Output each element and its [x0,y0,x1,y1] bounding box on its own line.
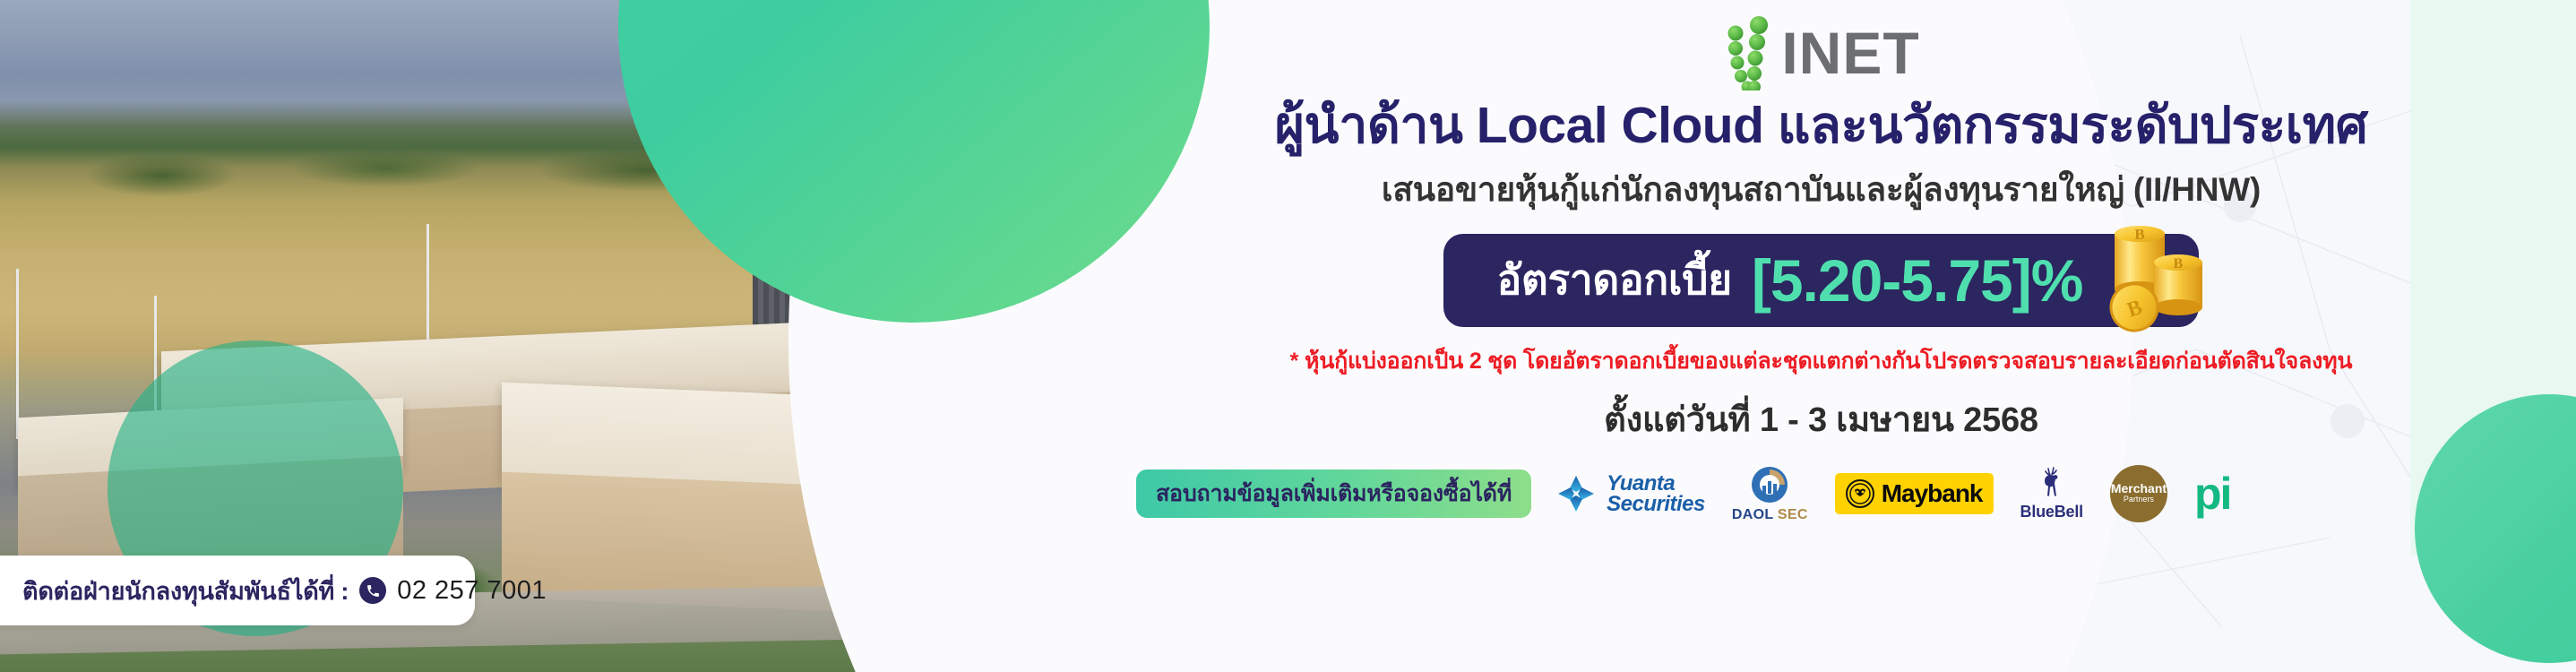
bluebell-wordmark: BlueBell [2020,503,2083,521]
yuanta-star-icon [1555,472,1598,515]
inquiry-cta-button[interactable]: สอบถามข้อมูลเพิ่มเติมหรือจองซื้อได้ที่ [1136,470,1531,518]
partner-row: สอบถามข้อมูลเพิ่มเติมหรือจองซื้อได้ที่ [1066,464,2576,523]
partner-logo-bluebell[interactable]: BlueBell [2020,466,2083,521]
pi-wordmark: pi [2194,476,2230,512]
yuanta-line-2: Securities [1607,494,1705,514]
inet-logo: INET [1722,14,1919,91]
investor-relations-contact-card[interactable]: ติดต่อฝ่ายนักลงทุนสัมพันธ์ได้ที่ : 02 25… [0,556,475,625]
interest-rate-label: อัตราดอกเบี้ย [1497,247,1732,313]
daol-line-2: SEC [1778,507,1808,522]
yuanta-line-1: Yuanta [1607,473,1705,494]
utility-pole [16,269,19,439]
merchant-line-1: Merchant [2111,482,2167,495]
inet-dots-logo-icon [1722,15,1778,90]
contact-phone-number: 02 257 7001 [397,576,547,606]
offer-date-range: ตั้งแต่วันที่ 1 - 3 เมษายน 2568 [1604,392,2038,446]
partner-logo-daol-sec[interactable]: DAOL SEC [1732,464,1808,523]
content-column: INET ผู้นำด้าน Local Cloud และนวัตกรรมระ… [1066,0,2576,672]
headline: ผู้นำด้าน Local Cloud และนวัตกรรมระดับปร… [1275,97,2368,156]
svg-text:B: B [2174,256,2184,271]
svg-text:B: B [2135,226,2145,243]
daol-line-1: DAOL [1732,507,1773,522]
daol-circle-icon [1749,464,1790,505]
gold-coin-stack-icon: B B B [2098,207,2215,332]
contact-label: ติดต่อฝ่ายนักลงทุนสัมพันธ์ได้ที่ : [22,572,349,610]
maybank-wordmark: Maybank [1882,479,1983,508]
phone-icon [359,577,386,604]
partner-logo-yuanta[interactable]: Yuanta Securities [1555,472,1705,515]
disclaimer-text: * หุ้นกู้แบ่งออกเป็น 2 ชุด โดยอัตราดอกเบ… [1290,343,2353,379]
partner-logo-maybank[interactable]: Maybank [1835,473,1994,514]
maybank-tiger-icon [1846,479,1874,508]
interest-rate-value: [5.20-5.75]% [1752,246,2083,314]
partner-logos: Yuanta Securities DAOL [1555,464,2230,523]
partner-logo-merchant-partners[interactable]: Merchant Partners [2110,465,2167,522]
bluebell-deer-icon [2036,466,2068,502]
inet-wordmark: INET [1781,23,1919,82]
partner-logo-pi[interactable]: pi [2194,476,2230,512]
promo-banner: ติดต่อฝ่ายนักลงทุนสัมพันธ์ได้ที่ : 02 25… [0,0,2576,672]
interest-rate-box: อัตราดอกเบี้ย [5.20-5.75]% [1443,234,2200,327]
merchant-line-2: Partners [2124,495,2154,504]
